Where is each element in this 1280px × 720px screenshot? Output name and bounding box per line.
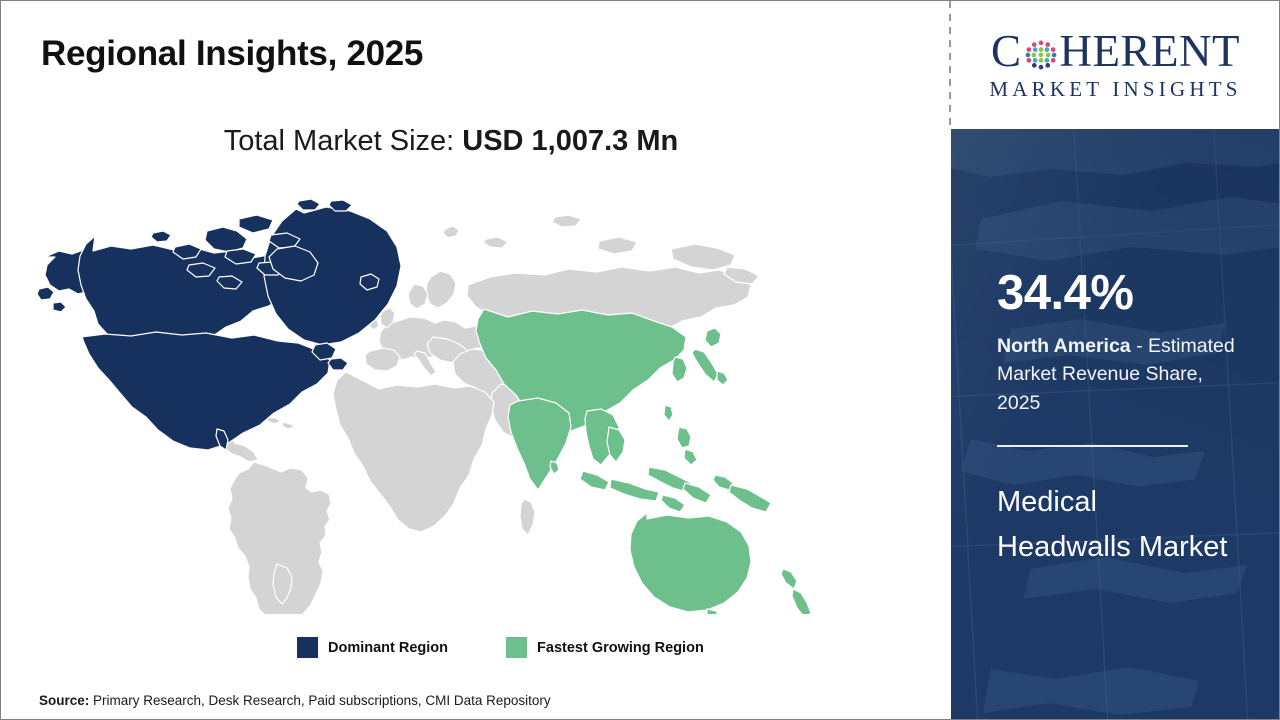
total-market-size-label: Total Market Size: (224, 125, 463, 157)
world-map (31, 189, 836, 614)
market-name: Medical Headwalls Market (997, 480, 1232, 570)
stat-panel-content: 34.4% North America - Estimated Market R… (951, 269, 1280, 570)
brand-logo: C (951, 2, 1280, 129)
total-market-size: Total Market Size: USD 1,007.3 Mn (1, 125, 901, 158)
left-content-panel: Regional Insights, 2025 Total Market Siz… (1, 1, 949, 719)
stat-description: North America - Estimated Market Revenue… (997, 332, 1236, 417)
infographic-root: Regional Insights, 2025 Total Market Siz… (0, 0, 1280, 720)
source-text: Primary Research, Desk Research, Paid su… (89, 693, 550, 708)
stat-percent-value: 34.4% (997, 269, 1236, 318)
legend-swatch-fastest-growing (506, 637, 527, 658)
legend-swatch-dominant (297, 637, 318, 658)
legend-label-dominant: Dominant Region (328, 640, 448, 656)
logo-letter-c: C (991, 29, 1022, 74)
legend-item-dominant: Dominant Region (297, 637, 448, 658)
page-title: Regional Insights, 2025 (41, 34, 423, 74)
logo-tagline: MARKET INSIGHTS (989, 77, 1241, 102)
dotted-globe-icon (1023, 36, 1059, 72)
total-market-size-value: USD 1,007.3 Mn (462, 125, 678, 157)
stat-panel-divider (997, 445, 1188, 447)
map-legend: Dominant Region Fastest Growing Region (297, 637, 704, 658)
stat-panel: 34.4% North America - Estimated Market R… (951, 129, 1280, 719)
map-region-asia-pacific (476, 309, 811, 614)
legend-item-fastest-growing: Fastest Growing Region (506, 637, 704, 658)
logo-wordmark: C (991, 29, 1240, 74)
world-map-svg (31, 189, 836, 614)
source-label: Source: (39, 693, 89, 708)
legend-label-fastest-growing: Fastest Growing Region (537, 640, 704, 656)
logo-word-herent: HERENT (1060, 29, 1240, 74)
stat-region-name: North America (997, 335, 1131, 357)
source-note: Source: Primary Research, Desk Research,… (39, 693, 551, 708)
